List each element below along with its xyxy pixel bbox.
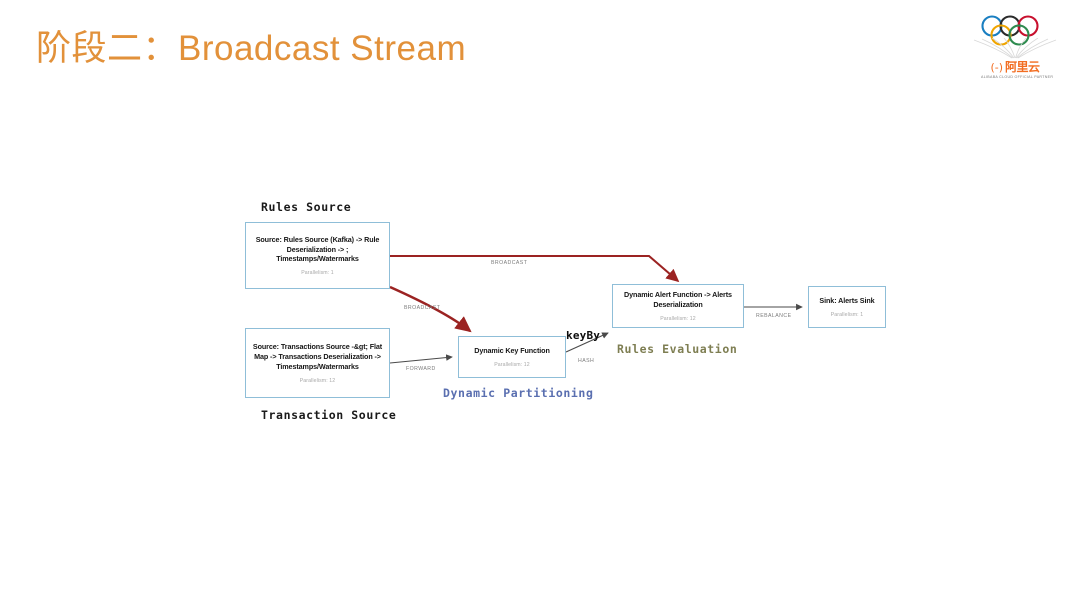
node-alerts-sink[interactable]: Sink: Alerts Sink Parallelism: 1 [808,286,886,328]
node-label: Sink: Alerts Sink [819,296,874,306]
caption-rules-source: Rules Source [261,200,351,214]
caption-transaction-source: Transaction Source [261,408,396,422]
edge-broadcast-top [390,256,678,281]
edge-layer [0,0,1080,608]
edge-label-broadcast-top: BROADCAST [491,260,527,266]
node-label: Source: Transactions Source -&gt; Flat M… [251,342,384,371]
annotation-keyby: keyBy [566,329,600,342]
edge-forward [390,357,452,363]
edge-label-rebalance: REBALANCE [756,313,791,319]
flink-job-graph: Source: Rules Source (Kafka) -> Rule Des… [0,0,1080,608]
edge-label-hash: HASH [578,358,594,364]
node-dynamic-key-function[interactable]: Dynamic Key Function Parallelism: 12 [458,336,566,378]
node-label: Dynamic Key Function [474,346,549,356]
node-label: Source: Rules Source (Kafka) -> Rule Des… [251,235,384,264]
node-parallelism: Parallelism: 12 [300,378,336,384]
node-parallelism: Parallelism: 12 [660,316,696,322]
node-transaction-source[interactable]: Source: Transactions Source -&gt; Flat M… [245,328,390,398]
caption-dynamic-partitioning: Dynamic Partitioning [443,386,593,400]
edge-label-broadcast-diagonal: BROADCAST [404,305,440,311]
node-parallelism: Parallelism: 12 [494,362,530,368]
node-parallelism: Parallelism: 1 [301,270,334,276]
caption-rules-evaluation: Rules Evaluation [617,342,737,356]
node-label: Dynamic Alert Function -> Alerts Deseria… [618,290,738,309]
edge-label-forward: FORWARD [406,366,436,372]
node-rules-source[interactable]: Source: Rules Source (Kafka) -> Rule Des… [245,222,390,289]
node-dynamic-alert-function[interactable]: Dynamic Alert Function -> Alerts Deseria… [612,284,744,328]
node-parallelism: Parallelism: 1 [831,312,864,318]
